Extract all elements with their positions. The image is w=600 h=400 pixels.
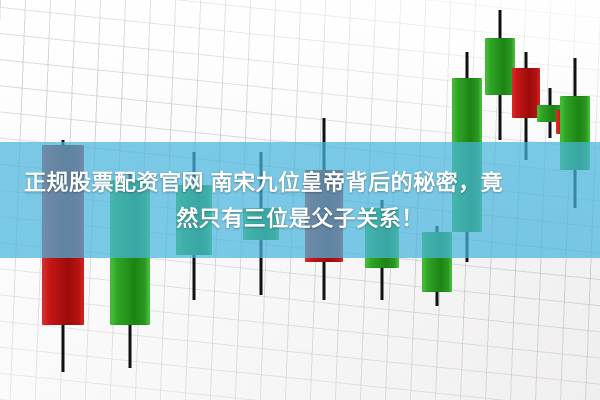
candlestick-body (485, 38, 515, 95)
candlestick-body (422, 232, 452, 292)
headline-line-1: 正规股票配资官网 南宋九位皇帝背后的秘密，竟 (0, 166, 600, 200)
candlestick (512, 52, 540, 160)
candlestick-body (560, 96, 590, 170)
headline-line-2: 然只有三位是父子关系！ (0, 202, 600, 236)
candlestick (485, 10, 515, 140)
candlestick (422, 226, 452, 306)
candlestick-banner-image: 正规股票配资官网 南宋九位皇帝背后的秘密，竟 然只有三位是父子关系！ (0, 0, 600, 400)
candlestick-chart (0, 0, 600, 400)
candlestick-body (512, 68, 540, 118)
